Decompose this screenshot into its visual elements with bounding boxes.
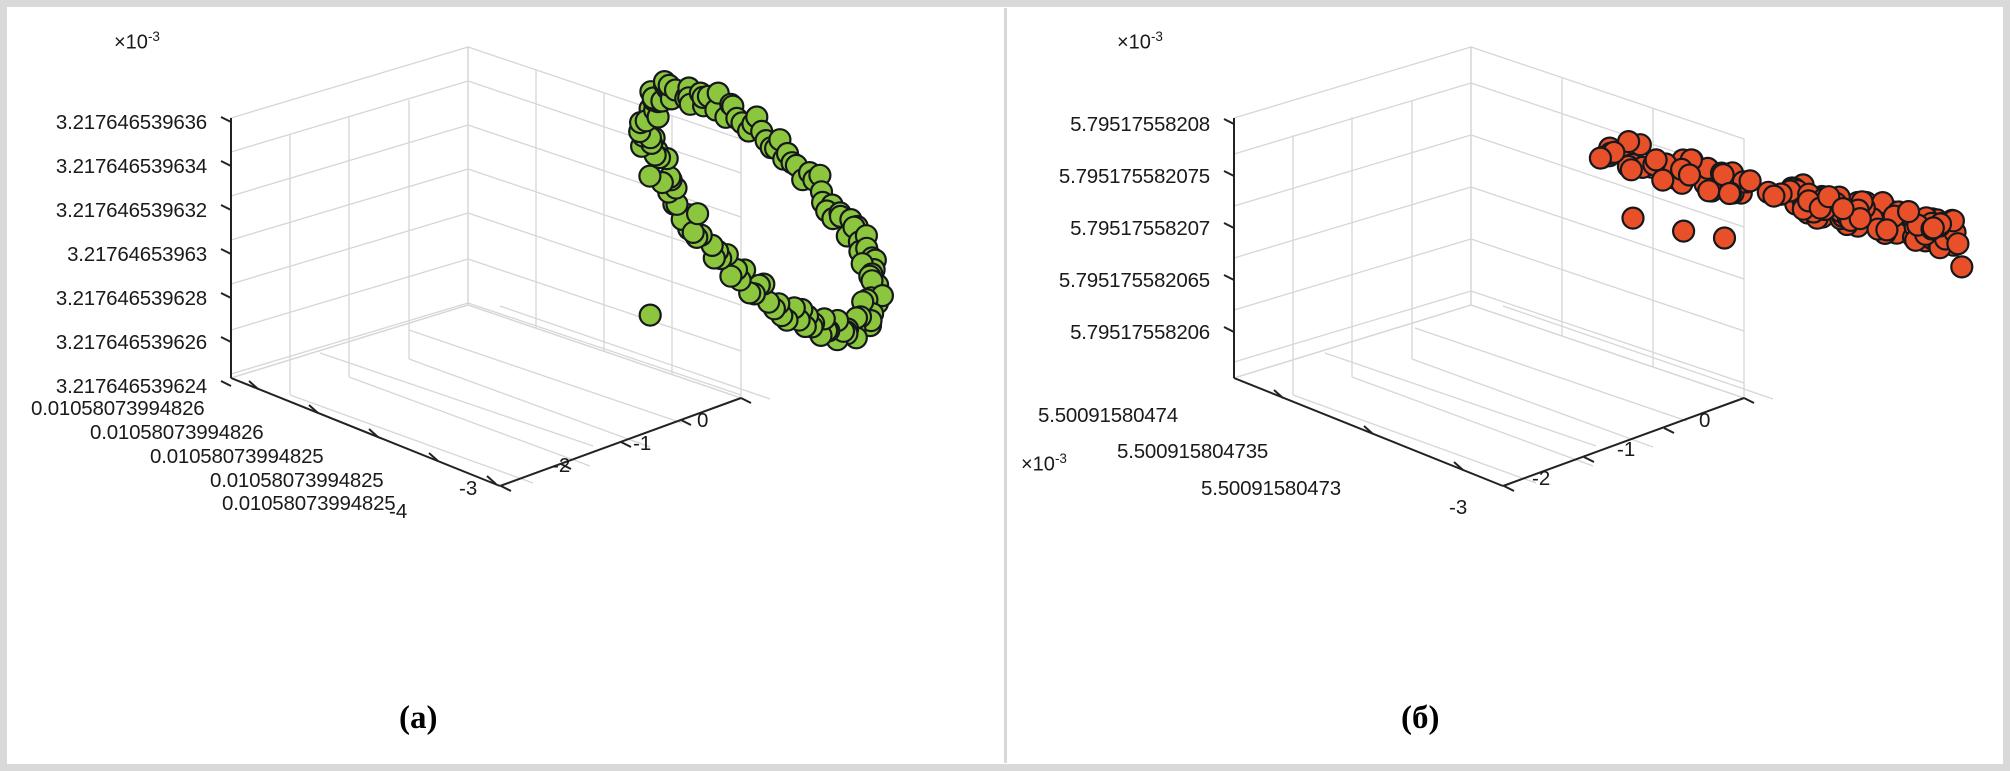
- z-exponent-power-b: -3: [1151, 29, 1163, 44]
- y-tick-b-0: 5.50091580474: [1038, 404, 1178, 428]
- y-tick-a-4: 0.01058073994825: [222, 492, 396, 516]
- data-point: [1646, 149, 1667, 170]
- data-point: [1714, 228, 1735, 249]
- x-tick-b-2: -2: [1532, 467, 1550, 491]
- z-tick-a-3: 3.21764653963: [0, 243, 207, 267]
- z-tick-a-1: 3.217646539634: [0, 155, 207, 179]
- data-point: [1833, 198, 1854, 219]
- data-point: [683, 222, 704, 243]
- z-exponent-b: ×10-3: [1117, 29, 1163, 55]
- data-point: [1719, 183, 1740, 204]
- data-point: [1679, 165, 1700, 186]
- caption-b: (б): [1401, 700, 1439, 737]
- x-tick-a-1: -1: [633, 432, 651, 456]
- data-point: [1698, 180, 1719, 201]
- y-tick-b-1: 5.500915804735: [1117, 440, 1268, 464]
- y-exponent-power-b: -3: [1055, 451, 1067, 466]
- z-tick-b-3: 5.795175582065: [1005, 269, 1210, 293]
- z-tick-b-2: 5.79517558207: [1005, 217, 1210, 241]
- x-tick-b-3: -3: [1449, 496, 1467, 520]
- z-tick-b-4: 5.79517558206: [1005, 321, 1210, 345]
- panel-b: ×10-3 5.79517558208 5.795175582075 5.795…: [1005, 0, 2010, 771]
- data-point: [1590, 148, 1611, 169]
- data-point: [1898, 201, 1919, 222]
- x-tick-b-1: -1: [1617, 438, 1635, 462]
- caption-a: (а): [399, 700, 437, 737]
- y-tick-b-2: 5.50091580473: [1201, 477, 1341, 501]
- data-point: [1623, 208, 1644, 229]
- data-point: [640, 305, 661, 326]
- z-exponent-base-b: ×10: [1117, 32, 1151, 54]
- panel-a: ×10-3 3.217646539636 3.217646539634 3.21…: [0, 0, 1005, 771]
- x-tick-b-0: 0: [1699, 409, 1710, 433]
- y-tick-a-3: 0.01058073994825: [210, 469, 384, 493]
- z-tick-a-4: 3.217646539628: [0, 287, 207, 311]
- z-exponent-power-a: -3: [148, 29, 160, 44]
- y-tick-a-2: 0.01058073994825: [150, 445, 324, 469]
- x-tick-a-2: -2: [552, 454, 570, 478]
- x-tick-a-4: -4: [389, 500, 407, 524]
- x-tick-a-3: -3: [459, 477, 477, 501]
- data-point: [1763, 186, 1784, 207]
- data-point: [1947, 233, 1968, 254]
- z-tick-a-5: 3.217646539626: [0, 331, 207, 355]
- x-tick-a-0: 0: [697, 409, 708, 433]
- y-exponent-b: ×10-3: [1021, 451, 1067, 477]
- y-exponent-base-b: ×10: [1021, 454, 1055, 476]
- z-tick-a-2: 3.217646539632: [0, 199, 207, 223]
- data-point: [1923, 217, 1944, 238]
- z-tick-a-0: 3.217646539636: [0, 111, 207, 135]
- data-point: [1951, 256, 1972, 277]
- data-point: [1652, 170, 1673, 191]
- z-tick-a-6: 3.217646539624: [0, 375, 207, 399]
- data-point: [1876, 219, 1897, 240]
- data-point: [1621, 159, 1642, 180]
- z-tick-b-1: 5.795175582075: [1005, 165, 1210, 189]
- y-tick-a-0: 0.01058073994826: [31, 397, 205, 421]
- z-tick-b-0: 5.79517558208: [1005, 113, 1210, 137]
- y-tick-a-1: 0.01058073994826: [90, 421, 264, 445]
- data-point: [687, 203, 708, 224]
- figure-container: ×10-3 3.217646539636 3.217646539634 3.21…: [0, 0, 2010, 771]
- z-exponent-base-a: ×10: [114, 32, 148, 54]
- data-point: [1673, 221, 1694, 242]
- z-exponent-a: ×10-3: [114, 29, 160, 55]
